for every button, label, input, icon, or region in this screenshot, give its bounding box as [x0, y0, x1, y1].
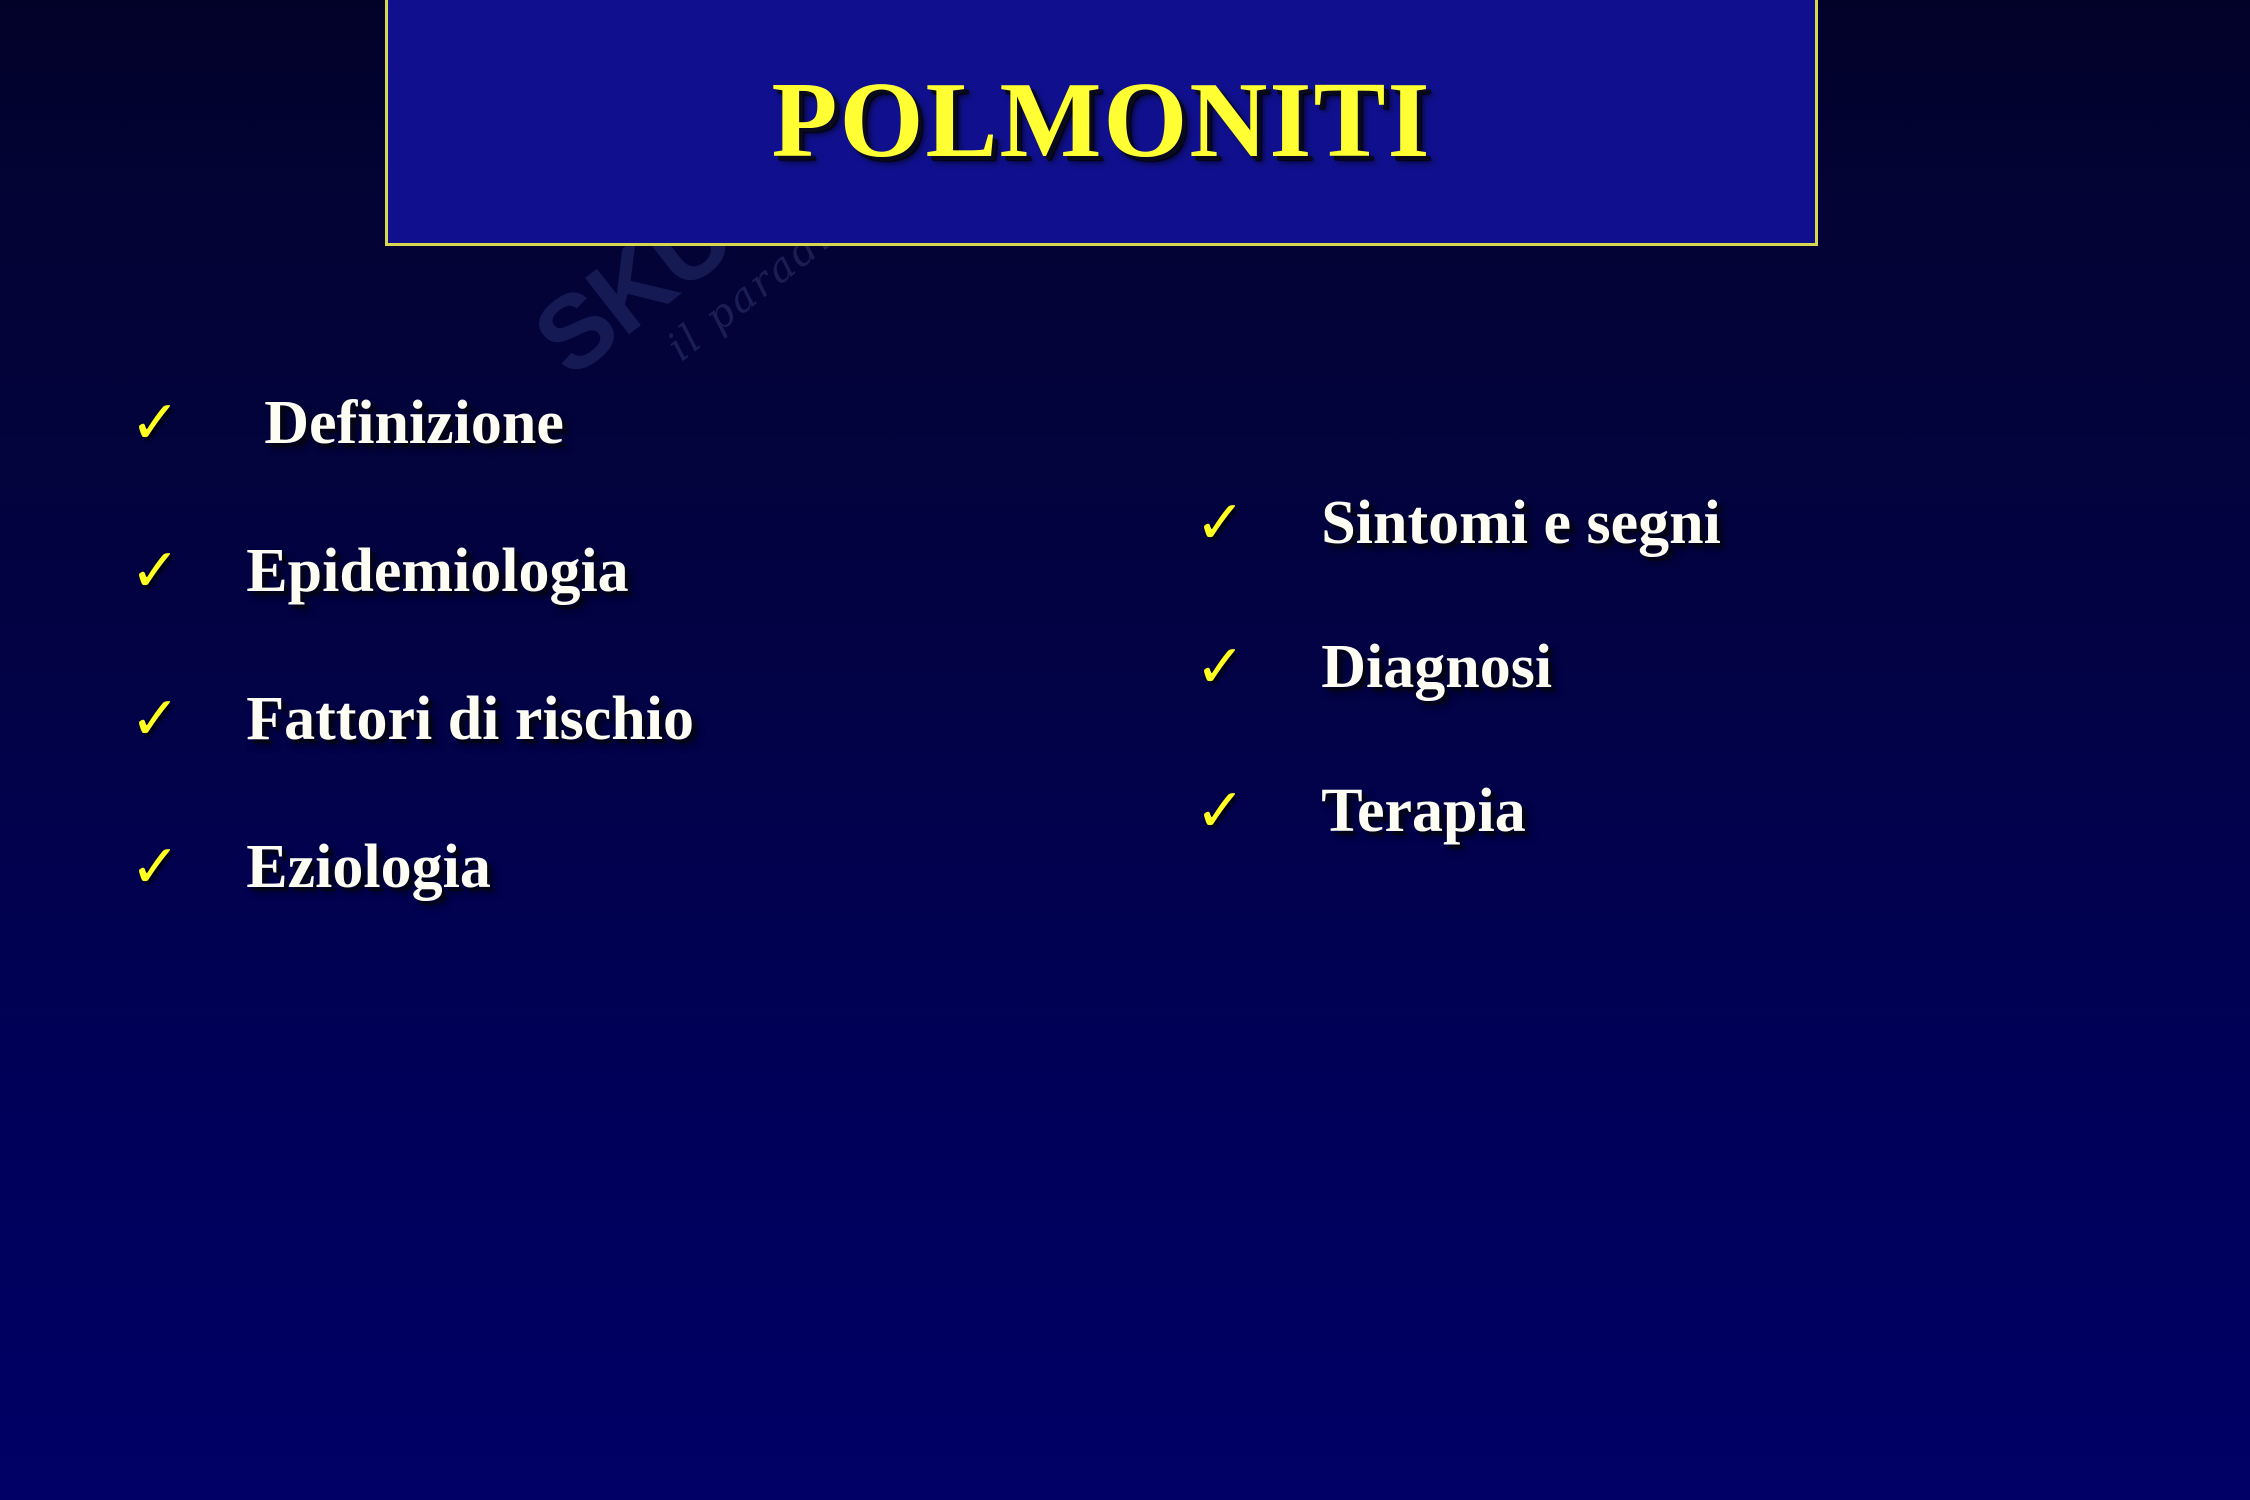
list-item-label: Epidemiologia — [246, 540, 628, 602]
list-item-label: Eziologia — [246, 836, 491, 898]
list-item-label: Terapia — [1321, 780, 1525, 842]
check-icon: ✓ — [130, 393, 180, 453]
check-icon: ✓ — [1195, 493, 1245, 553]
list-item[interactable]: ✓ Eziologia — [130, 836, 1130, 898]
list-item[interactable]: ✓ Sintomi e segni — [1195, 492, 2195, 554]
presentation-slide: SKUOLA.net il paradiso dello studente PO… — [0, 0, 2250, 1500]
check-icon: ✓ — [130, 837, 180, 897]
check-icon: ✓ — [130, 689, 180, 749]
list-item[interactable]: ✓ Definizione — [130, 392, 1130, 454]
list-item[interactable]: ✓ Epidemiologia — [130, 540, 1130, 602]
list-item-label: Fattori di rischio — [246, 688, 694, 750]
list-item[interactable]: ✓ Diagnosi — [1195, 636, 2195, 698]
slide-title-box: POLMONITI — [385, 0, 1818, 246]
right-bullet-list: ✓ Sintomi e segni ✓ Diagnosi ✓ Terapia — [1195, 492, 2195, 842]
list-item-label: Sintomi e segni — [1321, 492, 1721, 554]
list-item[interactable]: ✓ Terapia — [1195, 780, 2195, 842]
left-bullet-list: ✓ Definizione ✓ Epidemiologia ✓ Fattori … — [130, 392, 1130, 898]
slide-title: POLMONITI — [771, 67, 1431, 175]
check-icon: ✓ — [130, 541, 180, 601]
list-item-label: Definizione — [264, 392, 564, 454]
list-item-label: Diagnosi — [1321, 636, 1552, 698]
check-icon: ✓ — [1195, 637, 1245, 697]
list-item[interactable]: ✓ Fattori di rischio — [130, 688, 1130, 750]
check-icon: ✓ — [1195, 781, 1245, 841]
